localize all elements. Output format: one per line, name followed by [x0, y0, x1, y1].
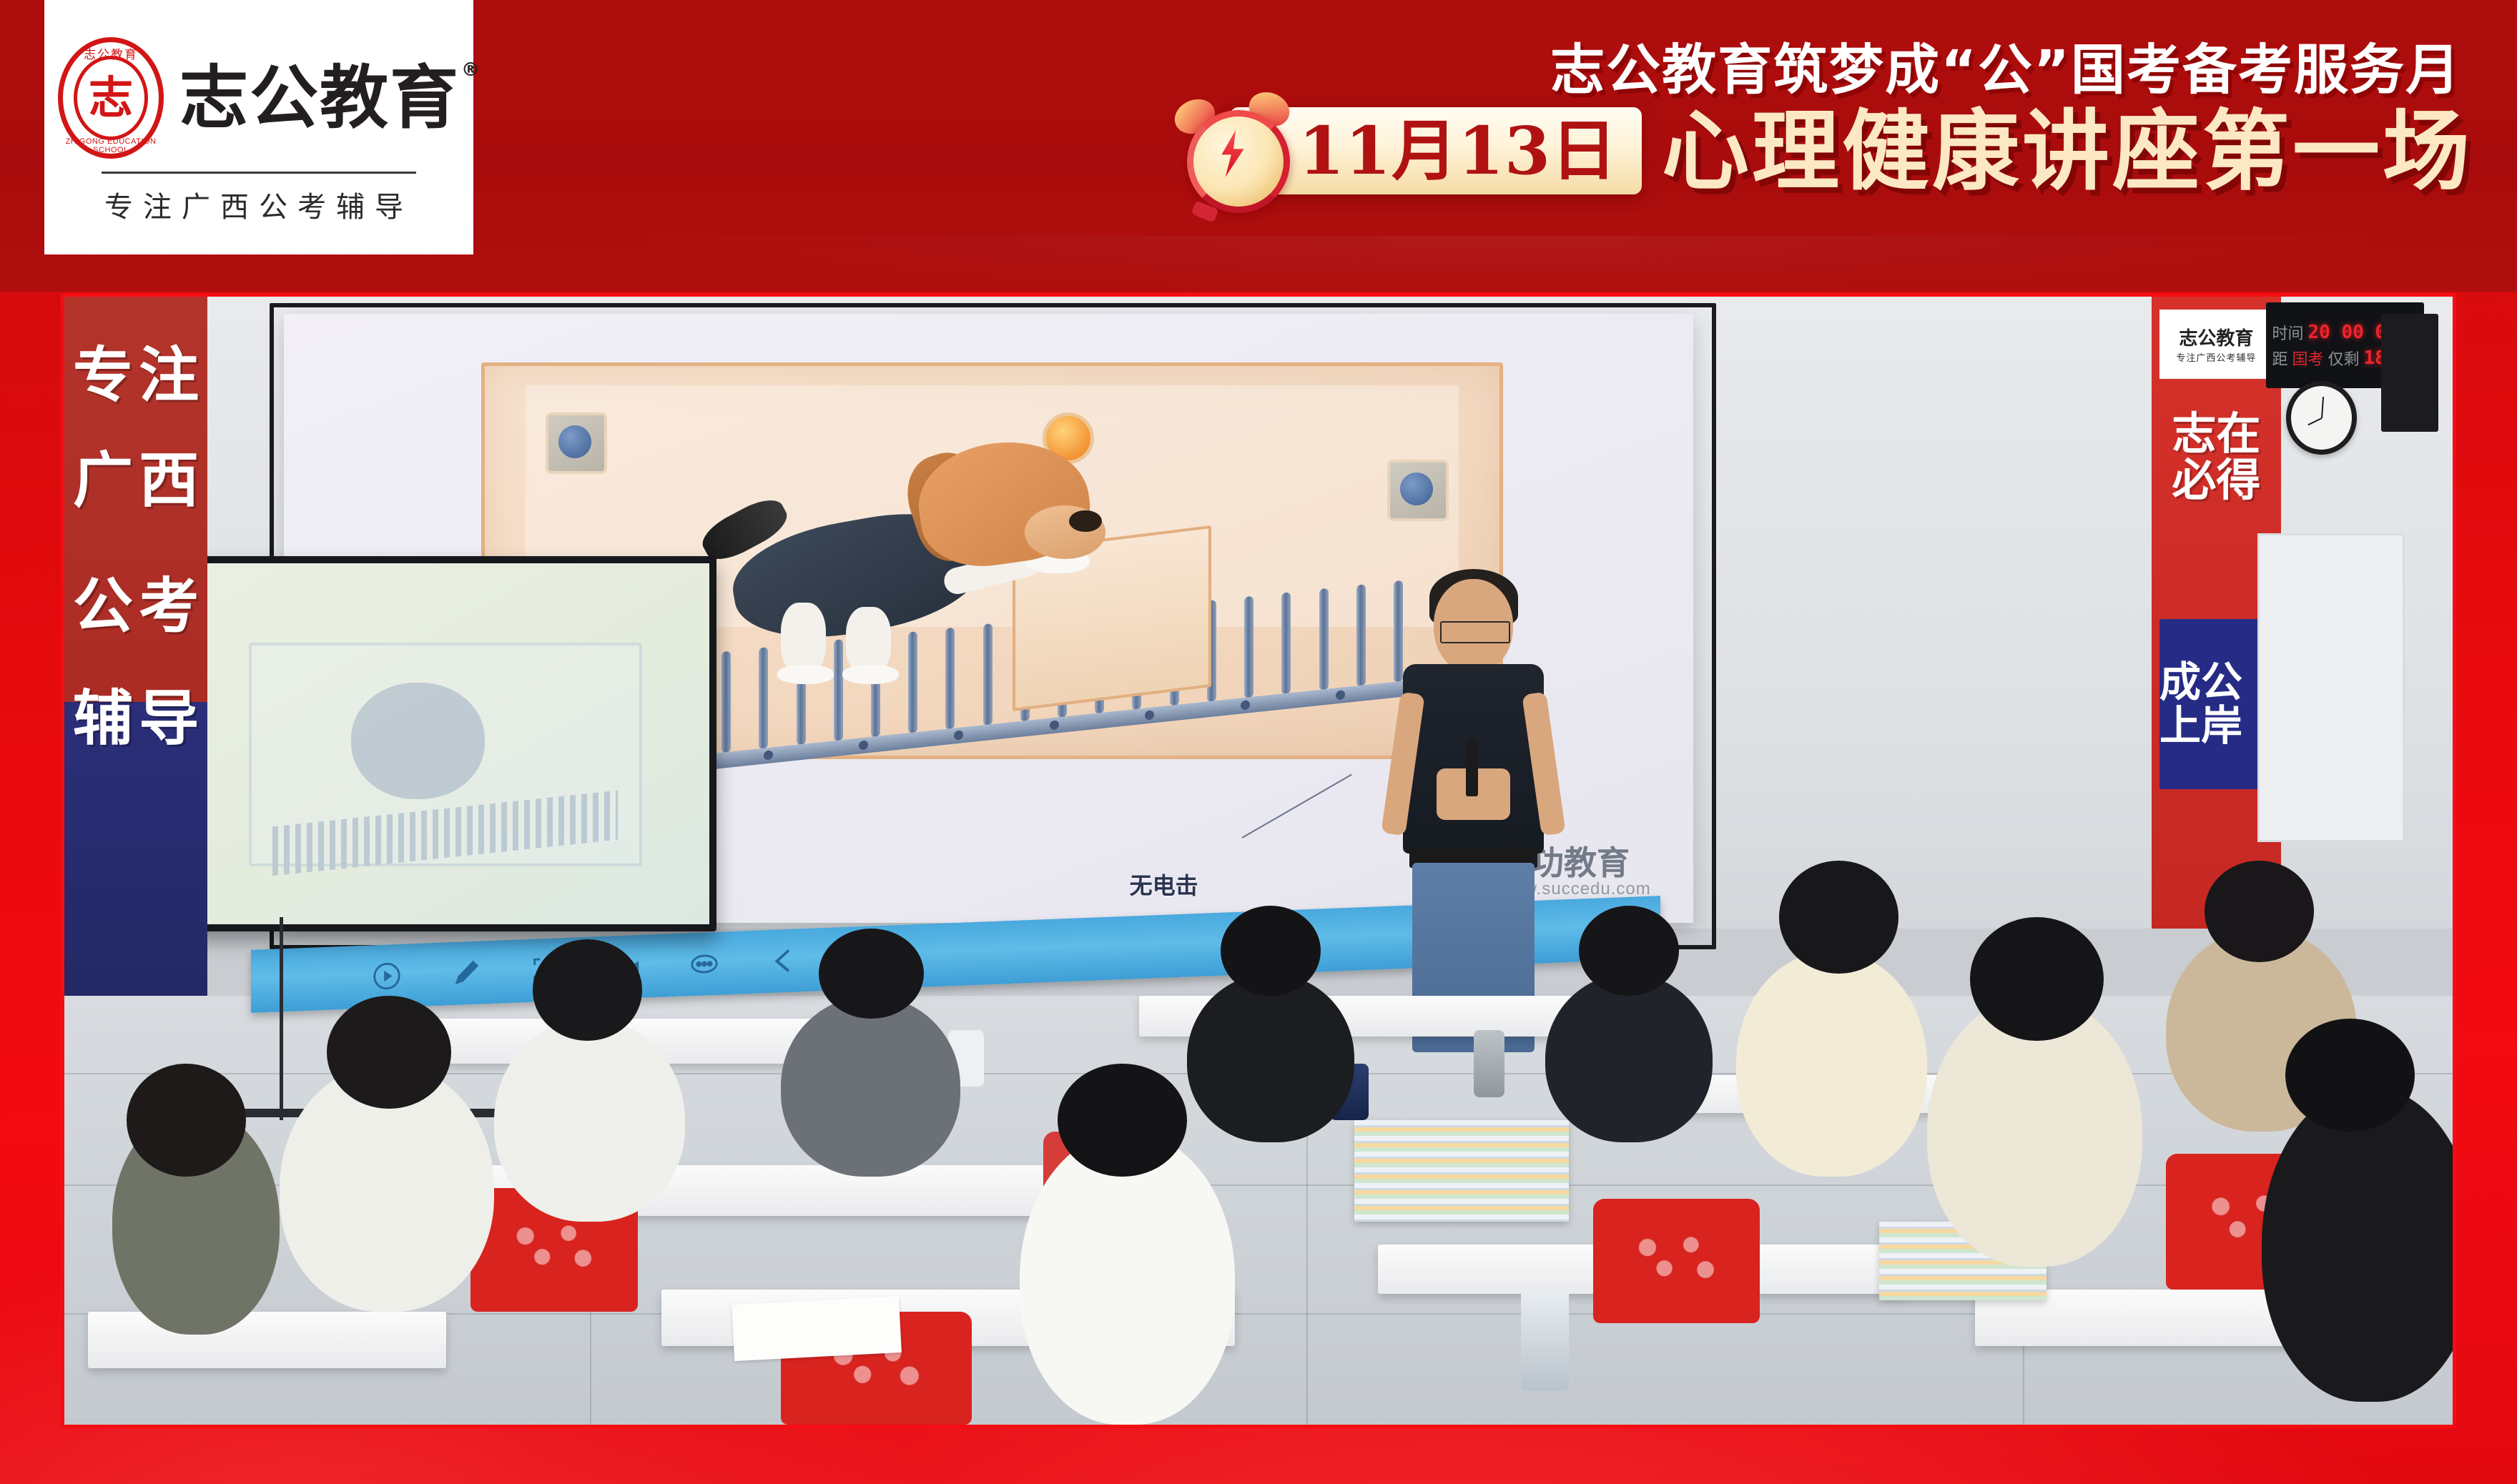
wall-speaker — [2381, 314, 2438, 432]
banner-left: 专 注 广 西 公 考 辅 导 — [64, 297, 207, 996]
student-head — [1221, 906, 1321, 996]
registered-mark: ® — [461, 61, 481, 79]
date-text: 11月13日 — [1299, 118, 1617, 184]
banner-left-char-3: 广 — [73, 450, 133, 510]
brand-seal-icon: 志公教育 志 ZHIGONG EDUCATION SCHOOL — [58, 37, 164, 159]
more-icon[interactable] — [687, 947, 720, 981]
led-countdown-prefix: 距 — [2272, 347, 2287, 370]
brand-logo-box: 志公教育 志 ZHIGONG EDUCATION SCHOOL 志公教育® 专注… — [44, 0, 473, 254]
label-no-shock: 无电击 — [1130, 868, 1198, 901]
led-countdown-mid: 仅剩 — [2328, 347, 2360, 370]
wall-clock — [2286, 381, 2357, 454]
event-photo-frame: 电击 无电击 成功教育 www.succedu.com — [61, 293, 2456, 1428]
student-head — [1970, 917, 2104, 1042]
student — [781, 996, 960, 1176]
seal-center-char: 志 — [89, 76, 133, 120]
side-monitor — [141, 556, 716, 931]
student-head — [127, 1064, 246, 1177]
thermos-bottle — [1474, 1030, 1504, 1098]
left-socket-icon — [546, 412, 607, 474]
led-time-label: 时间 — [2272, 321, 2303, 344]
monitor-stand — [280, 917, 283, 1120]
banner-left-char-1: 专 — [73, 345, 133, 405]
banner-left-char-5: 公 — [73, 576, 133, 636]
banner-right-slogan-blue: 成公上岸 — [2159, 619, 2273, 790]
banner-right-tagline: 专注广西公考辅导 — [2176, 350, 2256, 364]
no-shock-leader-line — [1242, 774, 1353, 839]
banner-right-brand: 志公教育 — [2179, 324, 2253, 350]
desk — [88, 1312, 446, 1368]
student-head — [2285, 1019, 2414, 1132]
brand-name: 志公教育® — [179, 64, 460, 132]
banner-left-char-6: 考 — [139, 576, 199, 636]
brand-name-text: 志公教育 — [179, 58, 460, 138]
student — [1736, 951, 1927, 1177]
dog-illustration — [708, 428, 1114, 670]
student-head — [327, 996, 451, 1109]
presenter-glasses — [1440, 621, 1510, 643]
campaign-line: 志公教育筑梦成“公”国考备考服务月 — [1550, 26, 2461, 104]
poster-header: 志公教育 志 ZHIGONG EDUCATION SCHOOL 志公教育® 专注… — [0, 0, 2517, 292]
back-arrow-icon[interactable] — [767, 944, 799, 978]
student — [1187, 974, 1354, 1143]
classroom-door — [2257, 533, 2405, 842]
page-title: 心理健康讲座第一场 — [1662, 107, 2473, 194]
student — [494, 1019, 685, 1222]
student-head — [1058, 1064, 1186, 1177]
logo-divider — [102, 172, 416, 174]
presenter-microphone — [1466, 740, 1478, 797]
banner-right-slogan-red: 志在必得 — [2152, 410, 2280, 503]
book-stack — [1354, 1120, 1570, 1222]
seal-bottom-text: ZHIGONG EDUCATION SCHOOL — [58, 137, 164, 154]
banner-right-header: 志公教育 专注广西公考辅导 — [2159, 310, 2273, 379]
paper-sheet — [732, 1296, 902, 1361]
alarm-clock-bolt-icon — [1170, 89, 1296, 214]
chair — [1593, 1199, 1760, 1323]
student-head — [1579, 906, 1679, 996]
student-head — [819, 929, 924, 1019]
play-icon[interactable] — [370, 959, 403, 994]
student — [1545, 974, 1713, 1143]
date-badge: 11月13日 — [1230, 107, 1642, 194]
header-title-row: 11月13日 心理健康讲座第一场 — [1230, 107, 2473, 194]
banner-left-char-2: 注 — [139, 345, 199, 405]
student-head — [1779, 861, 1898, 974]
banner-left-char-7: 辅 — [73, 688, 133, 748]
presenter — [1397, 579, 1550, 1053]
water-bottle — [1521, 1290, 1569, 1391]
right-socket-icon — [1387, 460, 1449, 521]
poster-canvas: 志公教育 志 ZHIGONG EDUCATION SCHOOL 志公教育® 专注… — [0, 0, 2517, 1484]
pen-icon[interactable] — [449, 956, 482, 990]
banner-left-char-8: 导 — [139, 688, 199, 748]
student-head — [2205, 861, 2315, 962]
banner-left-char-4: 西 — [139, 450, 199, 510]
event-photo: 电击 无电击 成功教育 www.succedu.com — [64, 297, 2453, 1425]
brand-tagline: 专注广西公考辅导 — [104, 184, 413, 225]
student-head — [533, 939, 643, 1041]
mirrored-slide — [249, 643, 641, 866]
side-monitor-screen — [148, 563, 709, 924]
led-countdown-exam: 国考 — [2292, 347, 2324, 370]
